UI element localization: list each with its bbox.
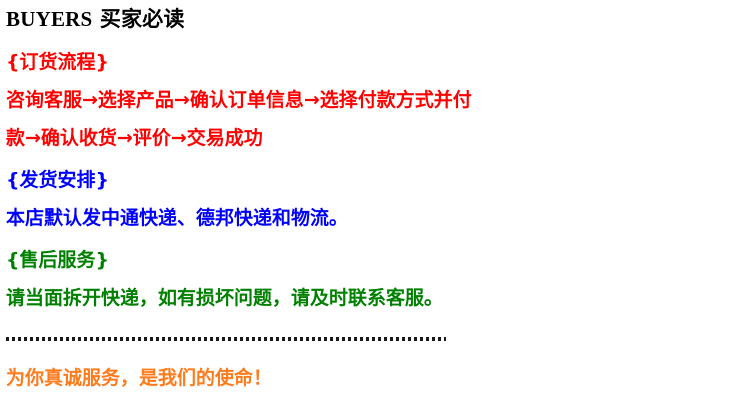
page-title-han (92, 7, 100, 31)
spacer (6, 113, 733, 126)
spacer (6, 151, 733, 168)
closing-slogan: 为你真诚服务，是我们的使命！ (6, 366, 733, 391)
spacer (6, 192, 733, 206)
page-title: BUYERS 买家必读 (6, 0, 733, 32)
spacer (6, 74, 733, 88)
after-sales-body-line: 请当面拆开快递，如有损坏问题，请及时联系客服。 (6, 286, 733, 311)
separator: ………………………………………………………………………… (6, 329, 733, 349)
buyers-notice-page: BUYERS 买家必读 {订货流程} 咨询客服→选择产品→确认订单信息→选择付款… (0, 0, 739, 408)
page-title-han-text: 买家必读 (100, 7, 185, 31)
dotted-divider-line (6, 337, 446, 341)
order-flow-line-2: 款→确认收货→评价→交易成功 (6, 126, 733, 151)
page-title-latin: BUYERS (6, 7, 92, 31)
spacer (6, 311, 733, 329)
section-heading-order-flow: {订货流程} (6, 50, 733, 74)
section-heading-after-sales: {售后服务} (6, 248, 733, 272)
spacer (6, 231, 733, 248)
spacer (6, 272, 733, 286)
spacer (6, 349, 733, 366)
order-flow-line-1: 咨询客服→选择产品→确认订单信息→选择付款方式并付 (6, 88, 733, 113)
section-heading-shipping: {发货安排} (6, 168, 733, 192)
spacer (6, 32, 733, 50)
shipping-body-line: 本店默认发中通快递、德邦快递和物流。 (6, 206, 733, 231)
